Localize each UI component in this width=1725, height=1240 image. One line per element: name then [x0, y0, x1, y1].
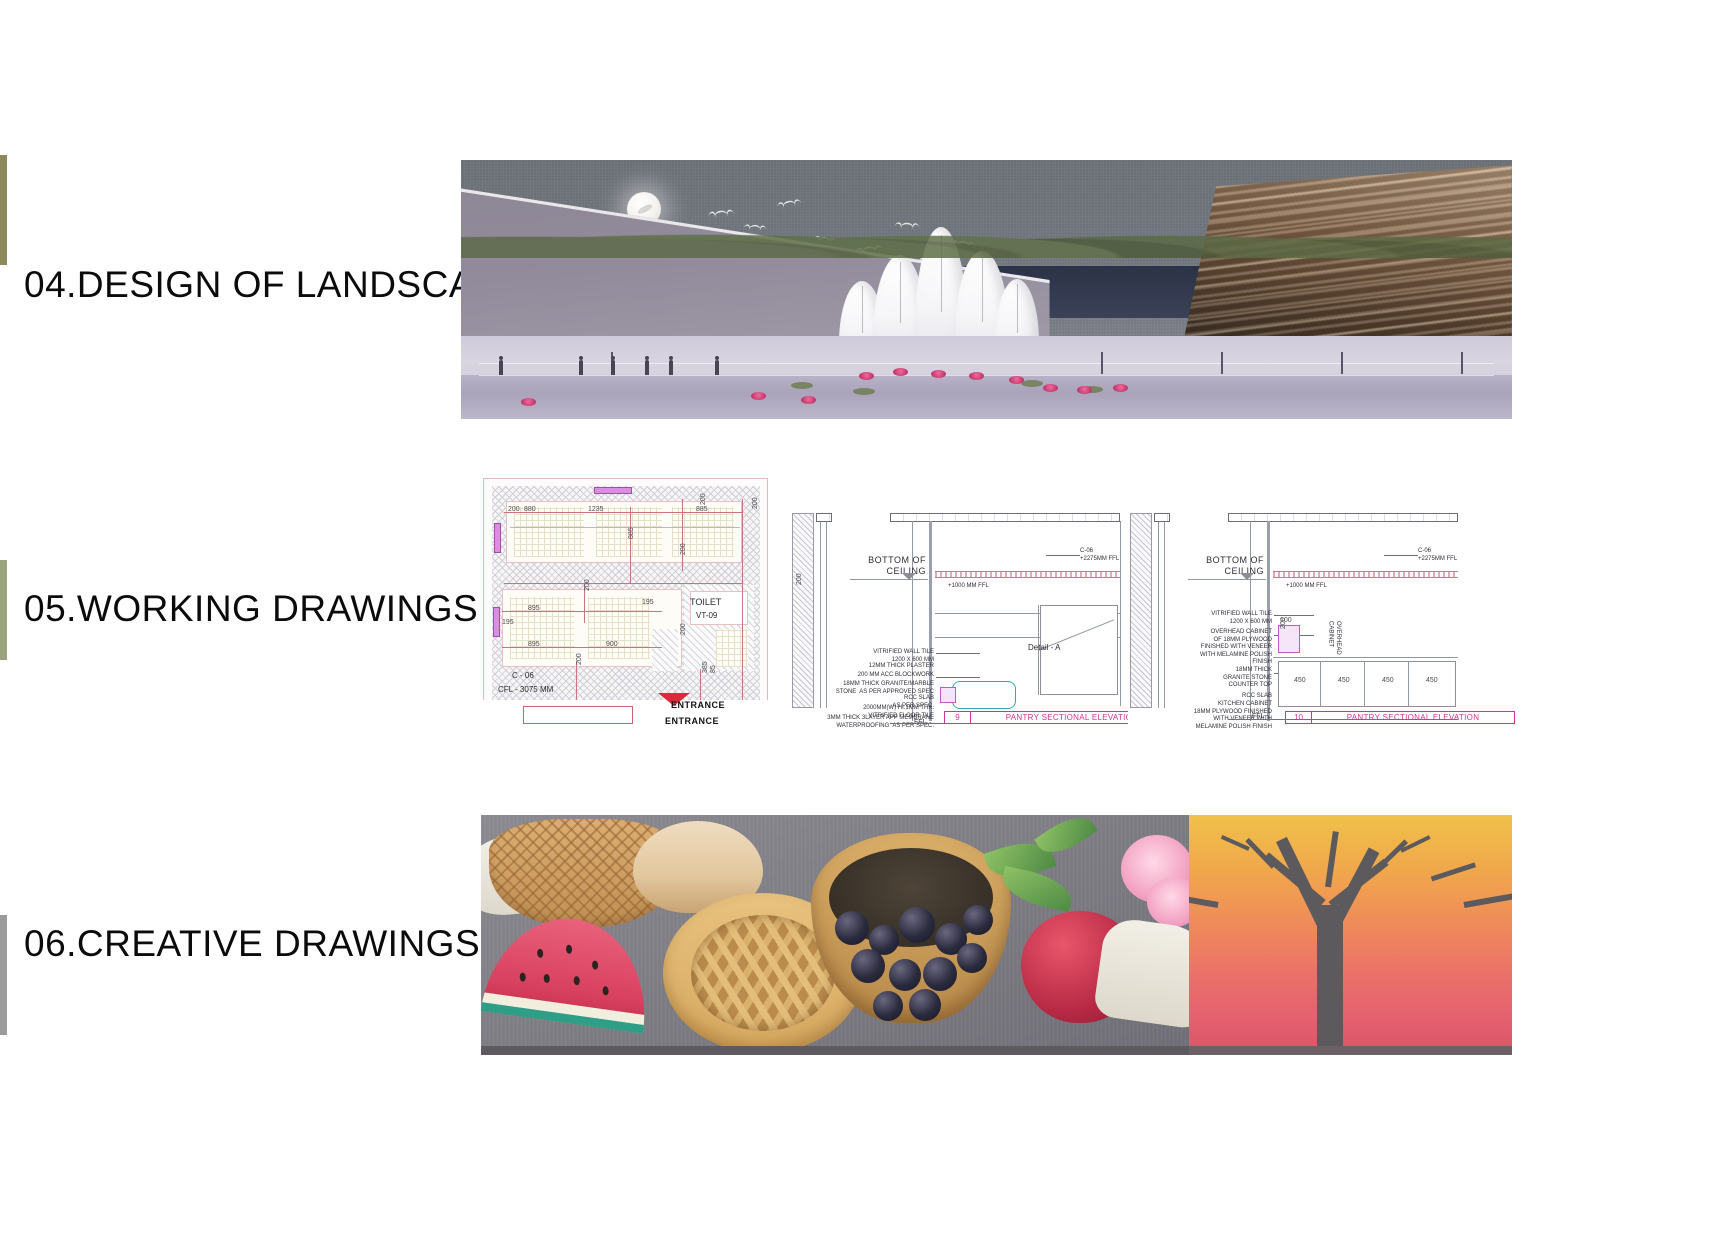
plan-dimension-label: 195	[642, 599, 654, 606]
plan-dimension-label: 200	[576, 653, 583, 665]
plan-dimension-line	[576, 661, 577, 701]
artwork-blueberry	[957, 943, 987, 973]
section-ceiling-datum	[850, 579, 928, 580]
lotus-flower-icon	[1113, 384, 1128, 392]
lotus-flower-icon	[801, 396, 816, 404]
section-detail-callout: Detail - A	[1028, 643, 1060, 652]
section-title-working-drawings: 05.WORKING DRAWINGS	[24, 588, 478, 630]
section-slab-hatch	[1273, 571, 1458, 578]
section-cabinet-divider	[1408, 661, 1409, 707]
drawing-pantry-section-9: 200 BOTTOM OF CEILING C-06 +2275MM FFL +…	[790, 505, 1130, 730]
plan-dimension-line	[742, 499, 743, 719]
plan-dimension-label: 385	[702, 661, 709, 673]
render-post	[1461, 352, 1463, 374]
artwork-seed	[537, 949, 544, 958]
artwork-blueberry	[909, 989, 941, 1021]
section-ffl-label: FFL	[1252, 713, 1264, 722]
section-line	[1120, 521, 1121, 706]
plan-highlight-block	[594, 487, 632, 494]
section-counter-line	[1273, 657, 1458, 658]
artwork-blueberry	[835, 911, 869, 945]
plan-fixture-grid	[510, 597, 574, 659]
lotus-flower-icon	[1009, 376, 1024, 384]
section-note: 18MM THICK GRANITE/MARBLE STONE AS PER A…	[798, 681, 934, 696]
render-reflecting-pool	[461, 375, 1512, 419]
section-note: RCC SLAB	[1168, 693, 1272, 701]
artwork-seed	[602, 986, 609, 995]
section-leader-line	[1046, 555, 1080, 556]
plan-dimension-label: 895	[528, 641, 540, 648]
plan-dimension-label: 200	[508, 506, 520, 513]
lotus-flower-icon	[1077, 386, 1092, 394]
artwork-blueberry	[873, 991, 903, 1021]
drawing-pantry-section-10: BOTTOM OF CEILING C-06 +2275MM FFL +1000…	[1128, 505, 1468, 730]
section-level-mark: +1000 MM FFL	[948, 583, 989, 591]
plan-spec-tag-cfl: CFL - 3075 MM	[498, 685, 553, 694]
section-note: VITRIFIED WALL TILE 1200 X 600 MM	[1148, 611, 1272, 626]
plan-fixture-grid	[514, 507, 584, 557]
artwork-blueberry	[899, 907, 935, 943]
section-number-10: 10	[1286, 712, 1312, 723]
plan-entrance-box	[523, 706, 633, 724]
section-ceiling-grid	[1154, 513, 1170, 522]
render-person	[579, 360, 583, 375]
lotus-flower-icon	[893, 368, 908, 376]
edge-tick-working	[0, 560, 7, 660]
tree-branch	[1325, 831, 1339, 887]
render-rail	[479, 375, 1494, 376]
section-cabinet-divider	[1320, 661, 1321, 707]
section-counter-detail	[940, 687, 956, 703]
plan-shaft	[652, 629, 678, 671]
section-note: 200 MM ACC BLOCKWORK	[812, 672, 934, 680]
plan-spec-tag-c06: C - 06	[512, 671, 534, 680]
section-number-9: 9	[945, 712, 971, 723]
section-level-triangle-icon	[1240, 573, 1254, 580]
section-dim: 200	[1280, 617, 1287, 629]
plan-room-label-toilet: TOILET	[690, 597, 721, 607]
lotus-flower-icon	[751, 392, 766, 400]
plan-fixture-grid	[588, 597, 650, 659]
entrance-label-1: ENTRANCE	[671, 700, 725, 710]
section-ceiling-grid	[816, 513, 832, 522]
plan-dimension-line	[504, 583, 742, 584]
plan-dimension-label: 200	[584, 579, 591, 591]
plan-dimension-label: 880	[524, 506, 536, 513]
plan-dimension-line	[630, 507, 631, 583]
lotus-flower-icon	[859, 372, 874, 380]
drawing-toilet-floor-plan: 200 880 1235 885 200 200 885 200 895 195…	[483, 478, 768, 730]
artwork-seed	[543, 974, 550, 983]
section-dim: 450	[1338, 677, 1350, 684]
artwork-bottom-edge	[481, 1046, 1189, 1055]
plan-dimension-label: 900	[606, 641, 618, 648]
artwork-blueberry	[963, 905, 993, 935]
section-dim: 450	[1426, 677, 1438, 684]
plan-dimension-line	[502, 647, 662, 648]
section-slab-hatch	[935, 571, 1120, 578]
artwork-seed	[519, 972, 526, 981]
plan-dimension-label: 885	[628, 527, 635, 539]
entrance-label-2: ENTRANCE	[665, 716, 719, 726]
section-leader-line	[936, 677, 980, 678]
section-title-10: PANTRY SECTIONAL ELEVATION	[1312, 713, 1514, 722]
section-level-triangle-icon	[902, 573, 916, 580]
artwork-sunset-tree	[1189, 815, 1512, 1055]
artwork-seed	[573, 976, 580, 985]
plan-dimension-label: 200	[680, 543, 687, 555]
lotus-flower-icon	[969, 372, 984, 380]
plan-centerline	[510, 527, 740, 528]
plan-dimension-line	[502, 611, 662, 612]
render-person	[645, 360, 649, 375]
artwork-seed	[592, 960, 599, 969]
tree-branch	[1189, 893, 1219, 908]
render-post	[1101, 352, 1103, 374]
section-dim: 450	[1294, 677, 1306, 684]
plan-dimension-label: 1235	[588, 506, 604, 513]
plan-spec-tag-vt09: VT-09	[696, 611, 717, 620]
section-leader-line	[936, 653, 980, 654]
plan-dimension-label: 895	[528, 605, 540, 612]
render-person	[611, 360, 615, 375]
artwork-blueberry	[851, 949, 885, 983]
section-title-creative-drawings: 06.CREATIVE DRAWINGS	[24, 923, 480, 965]
lily-pad	[791, 382, 813, 389]
artwork-bottom-edge	[1189, 1046, 1512, 1055]
section-base-cabinet	[1278, 661, 1456, 707]
artwork-blueberry	[889, 959, 921, 991]
section-level-mark: C-06 +2275MM FFL	[1418, 548, 1457, 563]
artwork-cloth	[1093, 916, 1189, 1030]
section-cabinet-divider	[1364, 661, 1365, 707]
lotus-flower-icon	[931, 370, 946, 378]
section-side-label: OVERHEAD CABINET	[1326, 621, 1341, 655]
plan-dimension-label: 195	[502, 619, 514, 626]
plan-highlight-block	[494, 523, 501, 553]
section-level-mark: +1000 MM FFL	[1286, 583, 1327, 591]
tree-branch	[1431, 862, 1476, 881]
section-note: OVERHEAD CABINET OF 18MM PLYWOOD FINISHE…	[1142, 629, 1272, 667]
plan-dimension-label: 200	[680, 623, 687, 635]
plan-dimension-label: 85	[710, 665, 717, 673]
lily-pad	[1021, 380, 1043, 387]
section-ceiling-grid	[1228, 513, 1458, 522]
lotus-flower-icon	[521, 398, 536, 406]
tree-branch	[1376, 839, 1408, 870]
section-dim: 200	[796, 573, 803, 585]
section-note: VITRIFIED WALL TILE 1200 X 600 MM	[812, 649, 934, 664]
section-overhead-cabinet	[1278, 625, 1300, 653]
section-detail-bubble	[952, 681, 1016, 709]
render-post	[1221, 352, 1223, 374]
section-dim: 450	[1382, 677, 1394, 684]
plan-dimension-line	[682, 499, 683, 571]
tree-branch	[1221, 835, 1250, 851]
render-person	[499, 360, 503, 375]
plan-dimension-label: 200	[752, 497, 759, 509]
tree-branch	[1463, 892, 1512, 908]
section-side-wall	[792, 513, 814, 708]
edge-tick-creative	[0, 915, 7, 1035]
plan-highlight-block	[493, 607, 500, 637]
edge-tick-landscape	[0, 155, 7, 265]
lily-pad	[853, 388, 875, 395]
section-titlebar-10: 10 PANTRY SECTIONAL ELEVATION	[1285, 711, 1515, 724]
render-person	[669, 360, 673, 375]
lotus-flower-icon	[1043, 384, 1058, 392]
section-leader-line	[1274, 615, 1314, 616]
artwork-seed	[566, 945, 573, 954]
render-treeline	[461, 191, 1512, 258]
render-post	[1341, 352, 1343, 374]
section-ceiling-datum	[1188, 579, 1266, 580]
section-ceiling-grid	[890, 513, 1120, 522]
section-level-mark: C-06 +2275MM FFL	[1080, 548, 1119, 563]
artwork-still-life	[481, 815, 1189, 1055]
artwork-blueberry	[923, 957, 957, 991]
render-landscape-pockets	[461, 160, 1512, 419]
section-leader-line	[1384, 555, 1418, 556]
section-note: 18MM THICK GRANITE STONE COUNTER TOP	[1158, 667, 1272, 690]
section-note: 12MM THICK PLASTER	[812, 663, 934, 671]
plan-fixture-grid	[716, 629, 748, 667]
render-person	[715, 360, 719, 375]
plan-dimension-label: 885	[696, 506, 708, 513]
plan-dimension-label: 200	[700, 493, 707, 505]
